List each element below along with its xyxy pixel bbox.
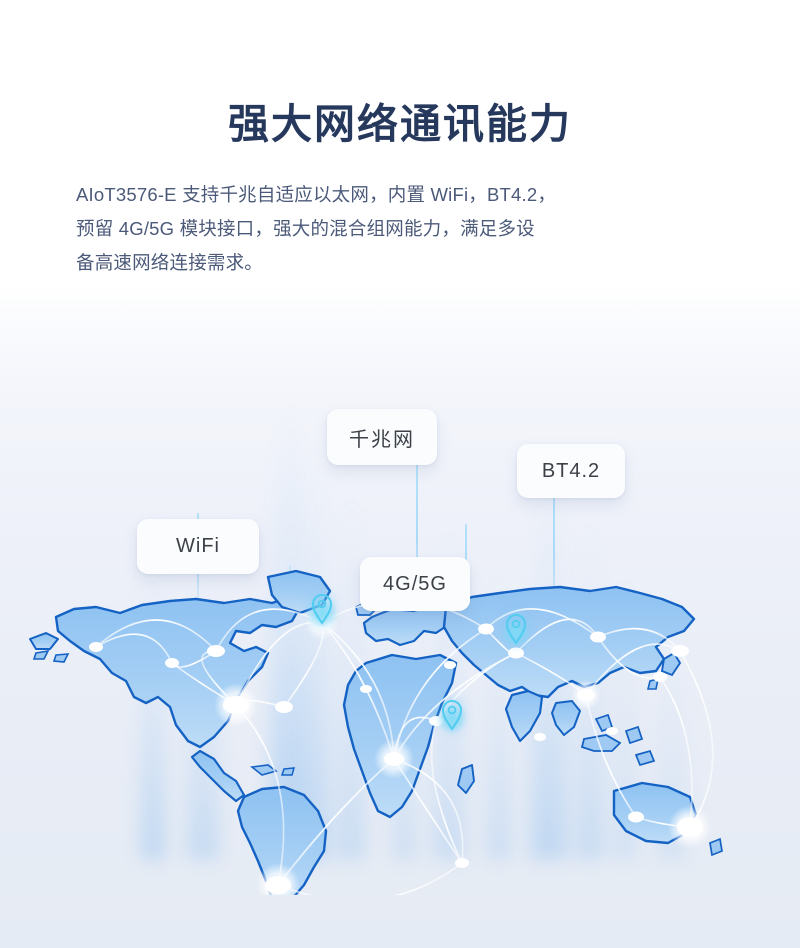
product-feature-page: 强大网络通讯能力 AIoT3576-E 支持千兆自适应以太网，内置 WiFi，B…: [0, 0, 800, 948]
map-node: [653, 672, 667, 682]
description-line-3: 备高速网络连接需求。: [76, 246, 724, 280]
map-node: [590, 632, 606, 643]
map-node: [671, 645, 689, 657]
map-node: [384, 752, 404, 766]
description-line-2: 预留 4G/5G 模块接口，强大的混合组网能力，满足多设: [76, 212, 724, 246]
tag-label-bluetooth: BT4.2: [542, 460, 600, 483]
map-node: [265, 876, 291, 894]
map-node: [207, 645, 225, 657]
tag-label-wifi: WiFi: [176, 535, 220, 558]
map-node: [165, 658, 179, 668]
map-node: [275, 701, 293, 713]
map-node: [606, 727, 618, 735]
tag-card-cellular[interactable]: 4G/5G: [360, 557, 470, 611]
page-title: 强大网络通讯能力: [0, 96, 800, 152]
map-node: [577, 689, 595, 701]
tag-label-cellular: 4G/5G: [383, 573, 447, 596]
page-description: AIoT3576-E 支持千兆自适应以太网，内置 WiFi，BT4.2， 预留 …: [76, 178, 724, 280]
map-node: [478, 624, 494, 635]
map-node: [89, 642, 103, 652]
tag-label-gigabit-ethernet: 千兆网: [349, 423, 415, 452]
map-landmasses: [30, 571, 722, 895]
map-node: [534, 733, 546, 741]
tag-card-wifi[interactable]: WiFi: [137, 519, 259, 574]
map-node: [455, 858, 469, 868]
map-node: [360, 685, 372, 693]
map-node: [677, 817, 703, 837]
map-node: [628, 812, 644, 823]
description-line-1: AIoT3576-E 支持千兆自适应以太网，内置 WiFi，BT4.2，: [76, 178, 724, 212]
map-node: [223, 696, 249, 714]
tag-card-bluetooth[interactable]: BT4.2: [517, 444, 625, 498]
map-node: [508, 648, 524, 659]
map-node: [444, 661, 456, 669]
tag-card-gigabit-ethernet[interactable]: 千兆网: [327, 409, 437, 465]
header-block: 强大网络通讯能力 AIoT3576-E 支持千兆自适应以太网，内置 WiFi，B…: [0, 0, 800, 280]
